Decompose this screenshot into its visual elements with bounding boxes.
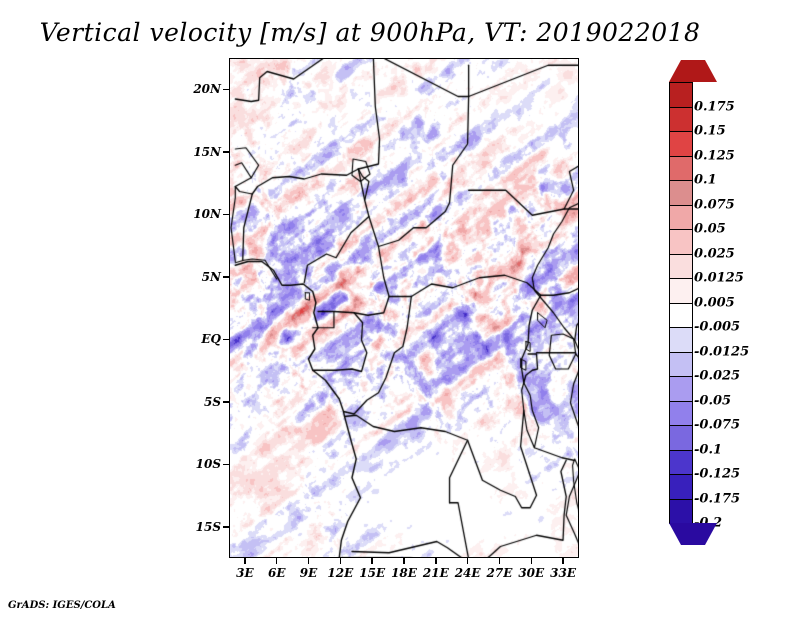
map-plot-area [229,58,579,558]
x-axis-tick-mark [403,558,405,564]
y-axis-tick-label: 15N [191,145,221,159]
colorbar-max-arrow [669,60,717,82]
colorbar-band [669,156,693,182]
colorbar-band [669,450,693,476]
y-axis-tick-mark [223,401,229,403]
x-axis-tick-label: 3E [236,566,254,580]
x-axis-tick-mark [308,558,310,564]
colorbar-band [669,229,693,255]
colorbar-tick-label: 0.15 [694,124,726,139]
x-axis-tick-mark [340,558,342,564]
x-axis-tick-label: 27E [487,566,513,580]
colorbar-tick-label: 0.175 [694,99,735,114]
x-axis-tick-mark [244,558,246,564]
grads-credit: GrADS: IGES/COLA [8,600,116,611]
y-axis-tick-mark [223,339,229,341]
colorbar-tick-label: 0.125 [694,148,735,163]
colorbar-band [669,376,693,402]
vertical-velocity-heatmap [230,59,579,558]
colorbar-tick-label: 0.075 [694,197,735,212]
y-axis-tick-label: 10N [191,207,221,221]
x-axis-tick-mark [371,558,373,564]
x-axis-tick-label: 30E [518,566,544,580]
colorbar-band [669,499,693,525]
x-axis-tick-mark [435,558,437,564]
x-axis-tick-label: 18E [391,566,417,580]
colorbar-tick-label: -0.025 [694,369,740,384]
colorbar-tick-label: 0.0125 [694,271,744,286]
y-axis-tick-label: 5N [191,270,221,284]
y-axis-tick-label: EQ [191,332,221,346]
y-axis-tick-mark [223,526,229,528]
colorbar-tick-label: -0.1 [694,442,722,457]
y-axis-tick-label: 10S [191,457,221,471]
colorbar-band [669,401,693,427]
y-axis-tick-mark [223,214,229,216]
page-title: Vertical velocity [m/s] at 900hPa, VT: 2… [0,18,740,47]
colorbar: 0.1750.150.1250.10.0750.050.0250.01250.0… [669,60,693,550]
colorbar-tick-label: -0.175 [694,491,740,506]
colorbar-band [669,180,693,206]
colorbar-band [669,205,693,231]
colorbar-band [669,352,693,378]
y-axis-tick-mark [223,464,229,466]
colorbar-tick-label: 0.025 [694,246,735,261]
x-axis-tick-mark [467,558,469,564]
colorbar-tick-label: -0.05 [694,393,731,408]
y-axis-tick-label: 20N [191,82,221,96]
colorbar-band [669,327,693,353]
y-axis-tick-label: 5S [191,395,221,409]
x-axis-tick-mark [531,558,533,564]
colorbar-band [669,278,693,304]
x-axis-tick-mark [499,558,501,564]
y-axis-tick-label: 15S [191,520,221,534]
x-axis-tick-label: 33E [550,566,576,580]
colorbar-tick-label: 0.1 [694,173,717,188]
y-axis-tick-mark [223,151,229,153]
colorbar-band [669,474,693,500]
colorbar-tick-label: -0.125 [694,467,740,482]
colorbar-tick-label: -0.005 [694,320,740,335]
x-axis-tick-label: 12E [327,566,353,580]
colorbar-tick-label: 0.005 [694,295,735,310]
x-axis-tick-label: 24E [455,566,481,580]
colorbar-tick-label: -0.075 [694,418,740,433]
colorbar-tick-label: 0.05 [694,222,726,237]
x-axis-tick-label: 15E [359,566,385,580]
colorbar-band [669,254,693,280]
colorbar-band [669,131,693,157]
colorbar-tick-label: -0.0125 [694,344,749,359]
colorbar-band [669,425,693,451]
x-axis-tick-label: 21E [423,566,449,580]
colorbar-min-arrow [669,523,717,545]
y-axis-tick-mark [223,89,229,91]
x-axis-tick-mark [276,558,278,564]
colorbar-band [669,107,693,133]
x-axis-tick-label: 6E [268,566,286,580]
colorbar-band [669,82,693,108]
y-axis-tick-mark [223,276,229,278]
x-axis-tick-mark [562,558,564,564]
x-axis-tick-label: 9E [300,566,318,580]
colorbar-band [669,303,693,329]
